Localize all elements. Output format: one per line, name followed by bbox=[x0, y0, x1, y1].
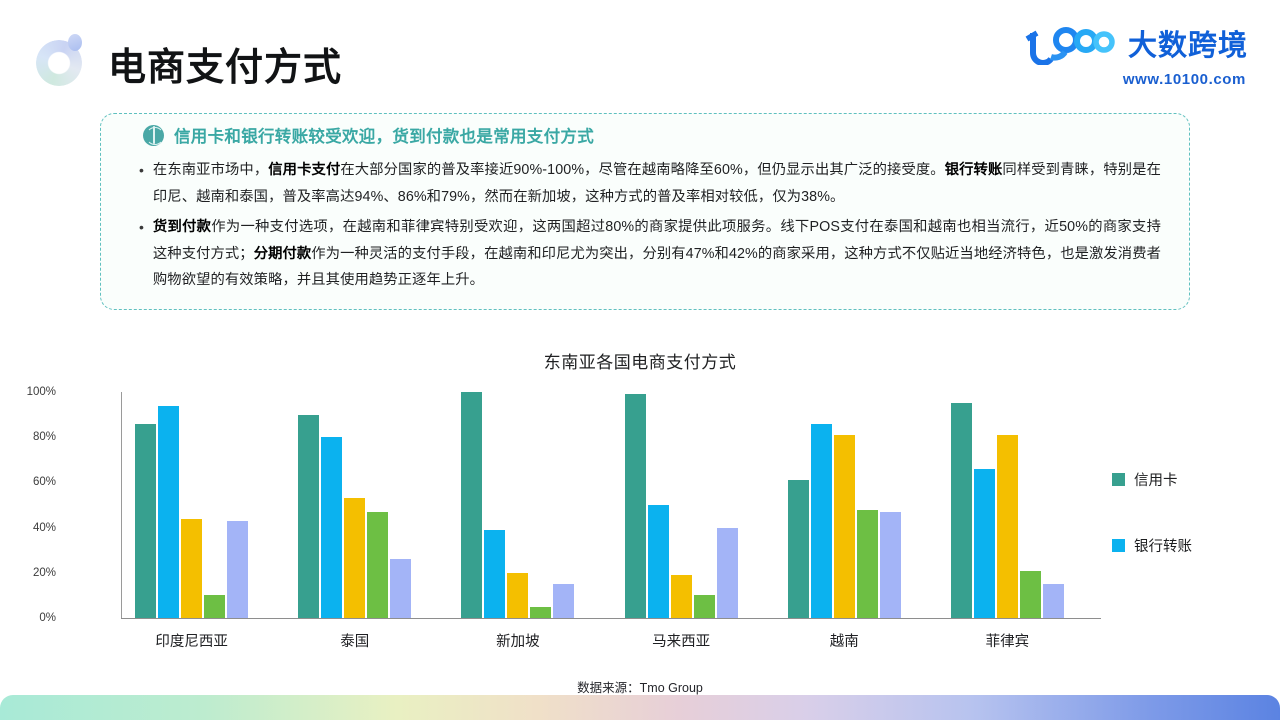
list-item: • 在东南亚市场中，信用卡支付在大部分国家的普及率接近90%-100%，尽管在越… bbox=[139, 157, 1161, 210]
bar[interactable] bbox=[530, 607, 551, 618]
bar-group bbox=[298, 392, 411, 618]
bar[interactable] bbox=[997, 435, 1018, 618]
chart-title: 东南亚各国电商支付方式 bbox=[0, 348, 1280, 373]
brand-logo[interactable]: 大数跨境 www.10100.com bbox=[988, 26, 1248, 92]
bar-group bbox=[625, 392, 738, 618]
legend-label: 信用卡 bbox=[1134, 469, 1178, 490]
bar[interactable] bbox=[390, 559, 411, 618]
insight-callout: 信用卡和银行转账较受欢迎，货到付款也是常用支付方式 • 在东南亚市场中，信用卡支… bbox=[100, 113, 1190, 310]
gradient-ring-logo-icon bbox=[36, 34, 88, 86]
bar[interactable] bbox=[461, 392, 482, 618]
bar[interactable] bbox=[788, 480, 809, 618]
bar[interactable] bbox=[553, 584, 574, 618]
bar[interactable] bbox=[834, 435, 855, 618]
x-axis-label: 印度尼西亚 bbox=[155, 630, 228, 651]
footer-gradient-bar bbox=[0, 695, 1280, 720]
bullet-text: 货到付款作为一种支付选项，在越南和菲律宾特别受欢迎，这两国超过80%的商家提供此… bbox=[153, 214, 1161, 294]
y-axis-tick: 60% bbox=[33, 476, 56, 488]
callout-title: 信用卡和银行转账较受欢迎，货到付款也是常用支付方式 bbox=[174, 123, 594, 147]
bar[interactable] bbox=[880, 512, 901, 618]
chart-plot-area bbox=[122, 392, 1101, 618]
bar[interactable] bbox=[321, 437, 342, 618]
bar[interactable] bbox=[625, 394, 646, 618]
callout-bullet-list: • 在东南亚市场中，信用卡支付在大部分国家的普及率接近90%-100%，尽管在越… bbox=[101, 147, 1189, 294]
chart-legend: 信用卡银行转账 bbox=[1112, 470, 1272, 602]
bar[interactable] bbox=[717, 528, 738, 618]
y-axis-tick: 20% bbox=[33, 567, 56, 579]
brand-url[interactable]: www.10100.com bbox=[988, 71, 1248, 88]
brand-name: 大数跨境 bbox=[1128, 32, 1248, 61]
bar[interactable] bbox=[484, 530, 505, 618]
bar[interactable] bbox=[951, 403, 972, 618]
bar[interactable] bbox=[811, 424, 832, 618]
x-axis-line bbox=[121, 618, 1101, 619]
bar[interactable] bbox=[227, 521, 248, 618]
globe-icon bbox=[143, 125, 164, 146]
legend-swatch bbox=[1112, 473, 1125, 486]
y-axis-tick: 80% bbox=[33, 431, 56, 443]
bar-group bbox=[135, 392, 248, 618]
y-axis-tick: 40% bbox=[33, 522, 56, 534]
bar-group bbox=[461, 392, 574, 618]
bar[interactable] bbox=[367, 512, 388, 618]
bar[interactable] bbox=[135, 424, 156, 618]
bar[interactable] bbox=[694, 595, 715, 618]
bar-group bbox=[951, 392, 1064, 618]
bar[interactable] bbox=[158, 406, 179, 618]
bar[interactable] bbox=[181, 519, 202, 618]
x-axis-label: 菲律宾 bbox=[986, 630, 1030, 651]
bar[interactable] bbox=[507, 573, 528, 618]
bullet-marker: • bbox=[139, 214, 144, 294]
legend-item[interactable]: 信用卡 bbox=[1112, 470, 1272, 488]
bar[interactable] bbox=[298, 415, 319, 618]
x-axis-label: 泰国 bbox=[340, 630, 369, 651]
bullet-text: 在东南亚市场中，信用卡支付在大部分国家的普及率接近90%-100%，尽管在越南略… bbox=[153, 157, 1161, 210]
bar[interactable] bbox=[344, 498, 365, 618]
bar[interactable] bbox=[857, 510, 878, 618]
legend-swatch bbox=[1112, 539, 1125, 552]
bar[interactable] bbox=[1020, 571, 1041, 618]
page-title: 电商支付方式 bbox=[108, 36, 342, 91]
legend-item[interactable]: 银行转账 bbox=[1112, 536, 1272, 554]
bar[interactable] bbox=[1043, 584, 1064, 618]
data-source-note: 数据来源：Tmo Group bbox=[0, 677, 1280, 696]
10100-logo-icon bbox=[1023, 27, 1119, 65]
list-item: • 货到付款作为一种支付选项，在越南和菲律宾特别受欢迎，这两国超过80%的商家提… bbox=[139, 214, 1161, 294]
x-axis-label: 新加坡 bbox=[496, 630, 540, 651]
x-axis-label: 越南 bbox=[830, 630, 859, 651]
x-axis-label: 马来西亚 bbox=[652, 630, 710, 651]
callout-header: 信用卡和银行转账较受欢迎，货到付款也是常用支付方式 bbox=[101, 114, 1189, 147]
bar[interactable] bbox=[648, 505, 669, 618]
bar[interactable] bbox=[204, 595, 225, 618]
slide: 电商支付方式 大数跨境 www.10100.com 信用卡和银行转账较受欢迎，货… bbox=[0, 0, 1280, 720]
slide-header: 电商支付方式 大数跨境 www.10100.com bbox=[0, 0, 1280, 106]
y-axis-tick: 100% bbox=[27, 386, 56, 398]
bar[interactable] bbox=[671, 575, 692, 618]
bar-chart: 0%20%40%60%80%100% 印度尼西亚泰国新加坡马来西亚越南菲律宾 bbox=[60, 392, 1060, 622]
y-axis-tick: 0% bbox=[39, 612, 56, 624]
bar[interactable] bbox=[974, 469, 995, 618]
bullet-marker: • bbox=[139, 157, 144, 210]
legend-label: 银行转账 bbox=[1134, 535, 1192, 556]
bar-group bbox=[788, 392, 901, 618]
